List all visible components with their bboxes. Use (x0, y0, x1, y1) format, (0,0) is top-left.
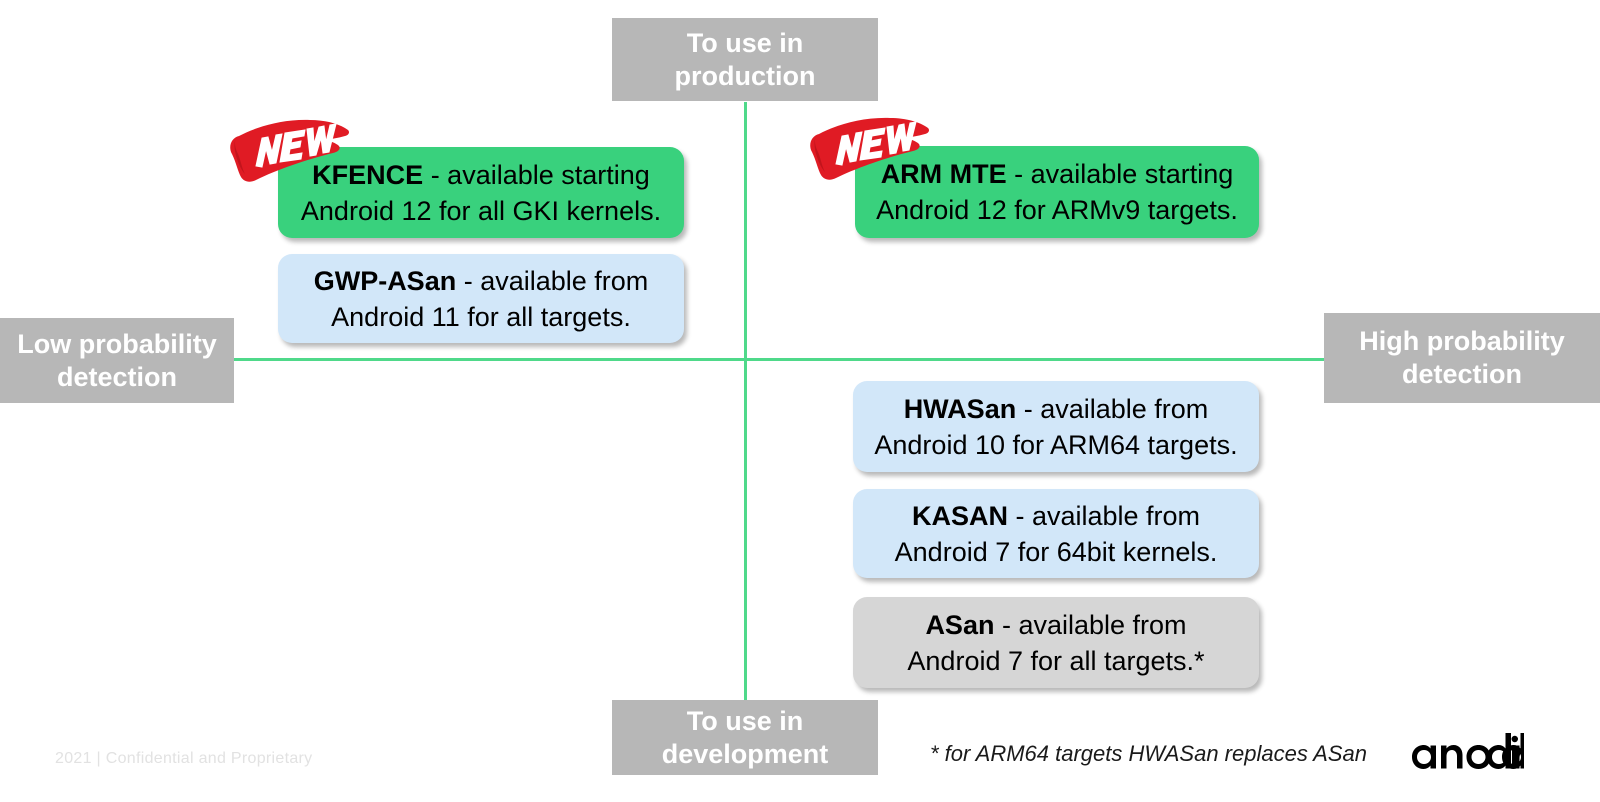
footnote-text: * for ARM64 targets HWASan replaces ASan (930, 741, 1367, 767)
card-kasan-title: KASAN (912, 501, 1008, 531)
card-kfence-line1-rest: - available starting (423, 160, 650, 190)
card-gwp-asan: GWP-ASan - available from Android 11 for… (278, 254, 684, 343)
card-asan: ASan - available from Android 7 for all … (853, 597, 1259, 688)
card-kasan: KASAN - available from Android 7 for 64b… (853, 489, 1259, 578)
android-wordmark-logo-icon (1409, 733, 1524, 773)
axis-label-left-line2: detection (57, 362, 177, 392)
axis-label-top-line2: production (675, 61, 816, 91)
axis-label-bottom-line1: To use in (687, 706, 804, 736)
axis-label-top-line1: To use in (687, 28, 804, 58)
card-kfence-title: KFENCE (312, 160, 423, 190)
card-kasan-line1-rest: - available from (1008, 501, 1200, 531)
card-hwasan-line2: Android 10 for ARM64 targets. (874, 430, 1237, 460)
card-hwasan: HWASan - available from Android 10 for A… (853, 381, 1259, 472)
card-arm-mte-line2: Android 12 for ARMv9 targets. (876, 195, 1238, 225)
card-arm-mte: ARM MTE - available starting Android 12 … (855, 146, 1259, 238)
vertical-axis-line (744, 102, 747, 706)
slide-canvas: To use in production To use in developme… (0, 0, 1600, 802)
card-gwp-asan-title: GWP-ASan (314, 266, 457, 296)
copyright-text: 2021 | Confidential and Proprietary (55, 750, 312, 768)
card-kasan-line2: Android 7 for 64bit kernels. (895, 537, 1218, 567)
card-asan-line2: Android 7 for all targets.* (907, 646, 1204, 676)
horizontal-axis-line (234, 358, 1352, 361)
axis-label-bottom-line2: development (662, 739, 829, 769)
card-arm-mte-line1-rest: - available starting (1007, 159, 1234, 189)
card-arm-mte-title: ARM MTE (881, 159, 1007, 189)
card-hwasan-title: HWASan (904, 394, 1017, 424)
axis-label-left-line1: Low probability (17, 329, 217, 359)
card-hwasan-line1-rest: - available from (1016, 394, 1208, 424)
axis-label-low-probability-detection: Low probability detection (0, 318, 234, 403)
axis-label-to-use-in-development: To use in development (612, 700, 878, 775)
axis-label-to-use-in-production: To use in production (612, 18, 878, 101)
axis-label-high-probability-detection: High probability detection (1324, 313, 1600, 403)
axis-label-right-line1: High probability (1359, 326, 1565, 356)
card-kfence-line2: Android 12 for all GKI kernels. (301, 196, 661, 226)
card-gwp-asan-line2: Android 11 for all targets. (331, 302, 631, 332)
card-asan-title: ASan (925, 610, 994, 640)
card-asan-line1-rest: - available from (994, 610, 1186, 640)
axis-label-right-line2: detection (1402, 359, 1522, 389)
card-kfence: KFENCE - available starting Android 12 f… (278, 147, 684, 238)
card-gwp-asan-line1-rest: - available from (456, 266, 648, 296)
